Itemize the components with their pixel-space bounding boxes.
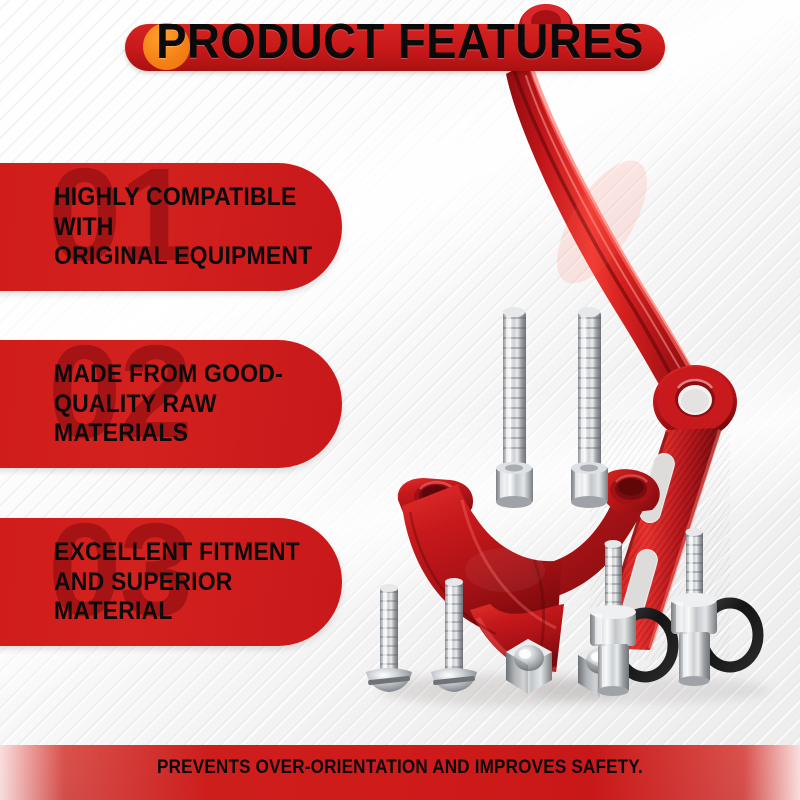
feature-text-02-line2: QUALITY RAW MATERIALS xyxy=(54,389,330,448)
page-title: PRODUCT FEATURES xyxy=(28,14,772,70)
background-light-sweep-secondary xyxy=(0,268,800,740)
feature-text-03: EXCELLENT FITMENT AND SUPERIOR MATERIAL xyxy=(54,538,330,627)
feature-text-01-line1: HIGHLY COMPATIBLE WITH xyxy=(54,183,330,242)
feature-text-03-line1: EXCELLENT FITMENT xyxy=(54,538,330,568)
feature-text-01: HIGHLY COMPATIBLE WITH ORIGINAL EQUIPMEN… xyxy=(54,183,330,272)
feature-text-03-line2: AND SUPERIOR MATERIAL xyxy=(54,567,330,626)
feature-text-02: MADE FROM GOOD- QUALITY RAW MATERIALS xyxy=(54,360,330,449)
feature-text-01-line2: ORIGINAL EQUIPMENT xyxy=(54,242,330,272)
feature-card-03[interactable]: 03 EXCELLENT FITMENT AND SUPERIOR MATERI… xyxy=(0,518,342,646)
footer-tagline: PREVENTS OVER-ORIENTATION AND IMPROVES S… xyxy=(40,757,760,779)
product-features-infographic: PRODUCT FEATURES 01 HIGHLY COMPATIBLE WI… xyxy=(0,0,800,800)
feature-card-02[interactable]: 02 MADE FROM GOOD- QUALITY RAW MATERIALS xyxy=(0,340,342,468)
feature-card-01[interactable]: 01 HIGHLY COMPATIBLE WITH ORIGINAL EQUIP… xyxy=(0,163,342,291)
feature-text-02-line1: MADE FROM GOOD- xyxy=(54,360,330,390)
